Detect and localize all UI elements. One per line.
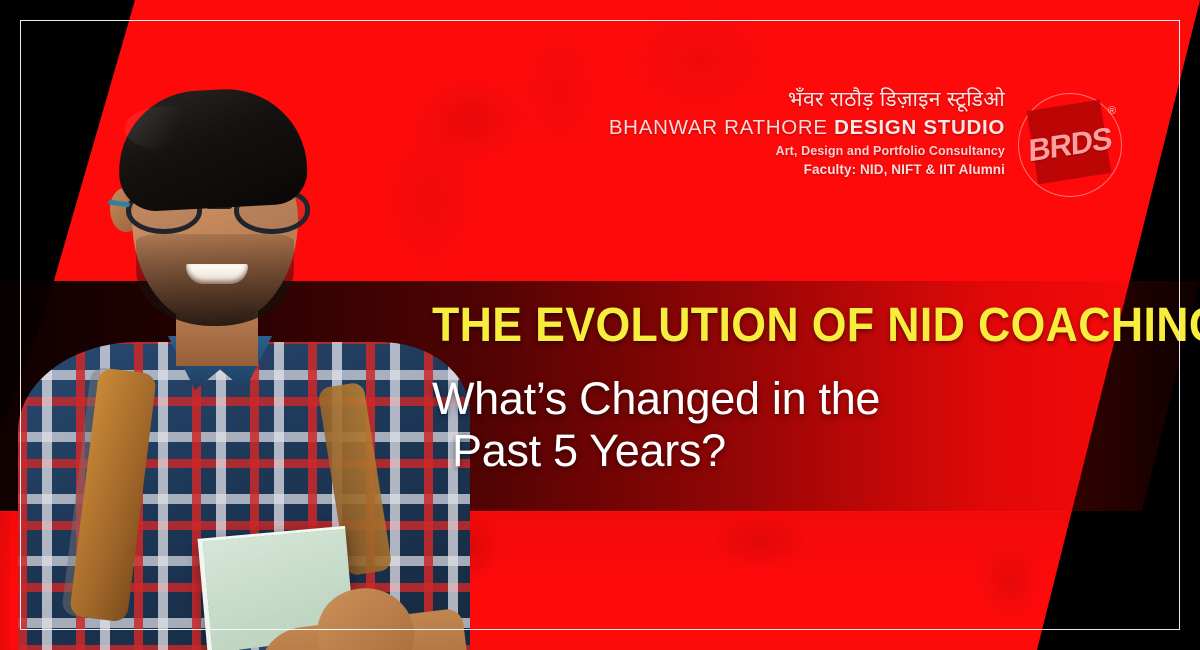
logo-brds-text: BRDS — [1018, 84, 1123, 205]
brand-lockup: भँवर राठौड़ डिज़ाइन स्टूडिओ BHANWAR RATH… — [609, 88, 1005, 177]
subtitle-line-2: Past 5 Years? — [432, 425, 1200, 477]
smile — [186, 264, 248, 284]
brand-name-light: BHANWAR RATHORE — [609, 116, 828, 139]
hair — [115, 85, 309, 213]
headline-title: THE EVOLUTION OF NID COACHING — [432, 298, 1200, 353]
brand-name-bold: DESIGN STUDIO — [834, 116, 1005, 139]
brand-hindi-name: भँवर राठौड़ डिज़ाइन स्टूडिओ — [609, 88, 1005, 113]
headline-subtitle: What’s Changed in the Past 5 Years? — [432, 373, 1200, 477]
student-photo — [0, 84, 470, 650]
brds-logo-icon: BRDS ® — [1018, 93, 1122, 197]
registered-trademark-icon: ® — [1108, 105, 1116, 117]
brand-tagline: Art, Design and Portfolio Consultancy — [609, 144, 1005, 158]
subtitle-line-1: What’s Changed in the — [432, 373, 880, 424]
brand-faculty-line: Faculty: NID, NIFT & IIT Alumni — [609, 162, 1005, 177]
promotional-banner: भँवर राठौड़ डिज़ाइन स्टूडिओ BHANWAR RATH… — [0, 0, 1200, 650]
brand-name: BHANWAR RATHORE DESIGN STUDIO — [609, 115, 1005, 141]
headline-block: THE EVOLUTION OF NID COACHING What’s Cha… — [432, 298, 1200, 477]
